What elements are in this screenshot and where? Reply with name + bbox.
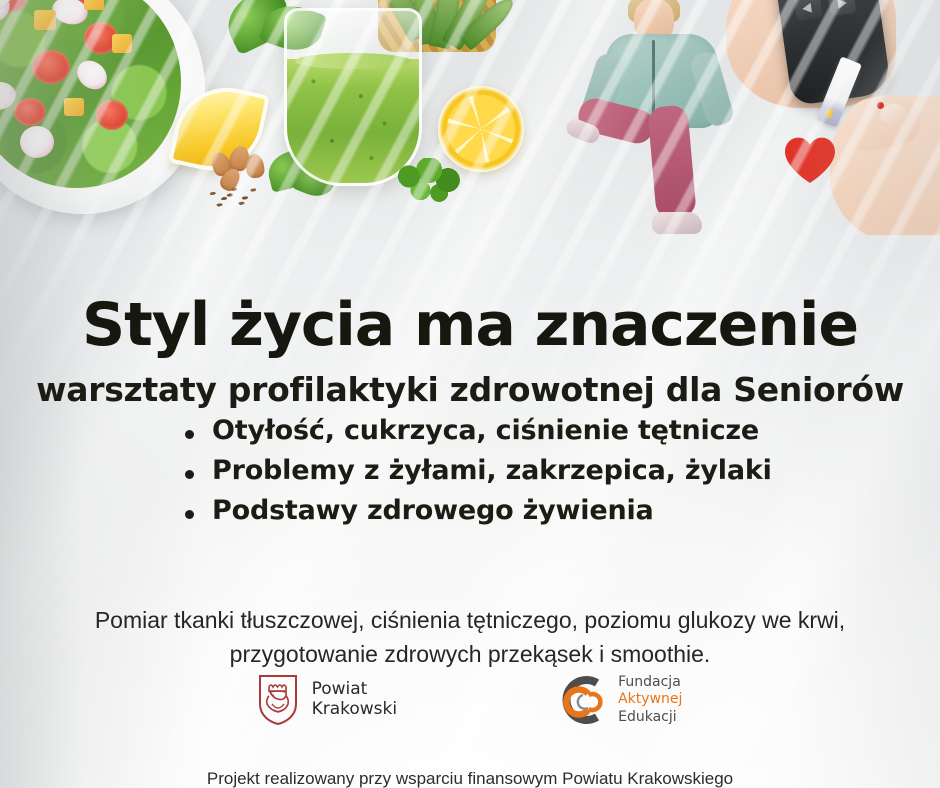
fundacja-aktywnej-edukacji-logo: Fundacja Aktywnej Edukacji: [557, 674, 682, 726]
fae-line-2: Aktywnej: [618, 691, 682, 708]
salad-contents: [0, 0, 181, 188]
pepper-cube: [34, 10, 56, 30]
meter-left-arrow-button: [794, 0, 823, 21]
radish-slice: [71, 55, 112, 95]
blood-drop: [877, 102, 884, 109]
description-text: Pomiar tkanki tłuszczowej, ciśnienia tęt…: [0, 603, 940, 671]
parsley-photo: [396, 158, 468, 204]
tomato-slice: [32, 50, 70, 84]
funding-footer-text: Projekt realizowany przy wsparciu finans…: [0, 769, 940, 788]
meter-right-arrow-button: [827, 0, 856, 16]
bullet-dot-icon: [185, 510, 194, 519]
triangle-left-icon: [802, 3, 812, 14]
logo-row: Powiat Krakowski Fundacja Aktywnej Eduka…: [0, 668, 940, 732]
powiat-crest-icon: [258, 674, 298, 726]
bullet-dot-icon: [185, 470, 194, 479]
topics-list: Otyłość, cukrzyca, ciśnienie tętnicze Pr…: [0, 415, 940, 535]
page-subtitle: warsztaty profilaktyki zdrowotnej dla Se…: [0, 372, 940, 408]
radish-slice: [20, 126, 54, 158]
almond-nut: [245, 153, 265, 179]
list-item: Problemy z żyłami, zakrzepica, żylaki: [150, 455, 790, 495]
flax-seeds-photo: [207, 180, 262, 209]
fae-line-3: Edukacji: [618, 709, 682, 726]
fae-line-1: Fundacja: [618, 674, 682, 691]
page-title: Styl życia ma znaczenie: [0, 295, 940, 355]
fae-circle-mark-icon: [557, 674, 609, 726]
list-item: Podstawy zdrowego żywienia: [150, 495, 790, 535]
bullet-dot-icon: [185, 430, 194, 439]
fae-logo-label: Fundacja Aktywnej Edukacji: [618, 674, 682, 726]
poster-canvas: Styl życia ma znaczenie warsztaty profil…: [0, 0, 940, 788]
heart-icon: [783, 136, 837, 184]
pepper-cube: [84, 0, 104, 10]
tomato-slice: [14, 98, 46, 126]
hero-image-band: [0, 0, 940, 235]
woman-shoe-right: [652, 212, 702, 234]
tomato-slice: [96, 100, 128, 130]
pepper-cube: [112, 34, 132, 53]
pepper-cube: [64, 98, 84, 116]
salad-bowl-photo: [0, 0, 205, 214]
jacket-zipper: [652, 40, 655, 120]
powiat-logo-label: Powiat Krakowski: [312, 680, 398, 719]
list-item-label: Problemy z żyłami, zakrzepica, żylaki: [212, 455, 772, 486]
list-item: Otyłość, cukrzyca, ciśnienie tętnicze: [150, 415, 790, 455]
triangle-right-icon: [837, 0, 847, 9]
powiat-krakowski-logo: Powiat Krakowski: [258, 674, 398, 726]
list-item-label: Otyłość, cukrzyca, ciśnienie tętnicze: [212, 415, 759, 446]
list-item-label: Podstawy zdrowego żywienia: [212, 495, 654, 526]
